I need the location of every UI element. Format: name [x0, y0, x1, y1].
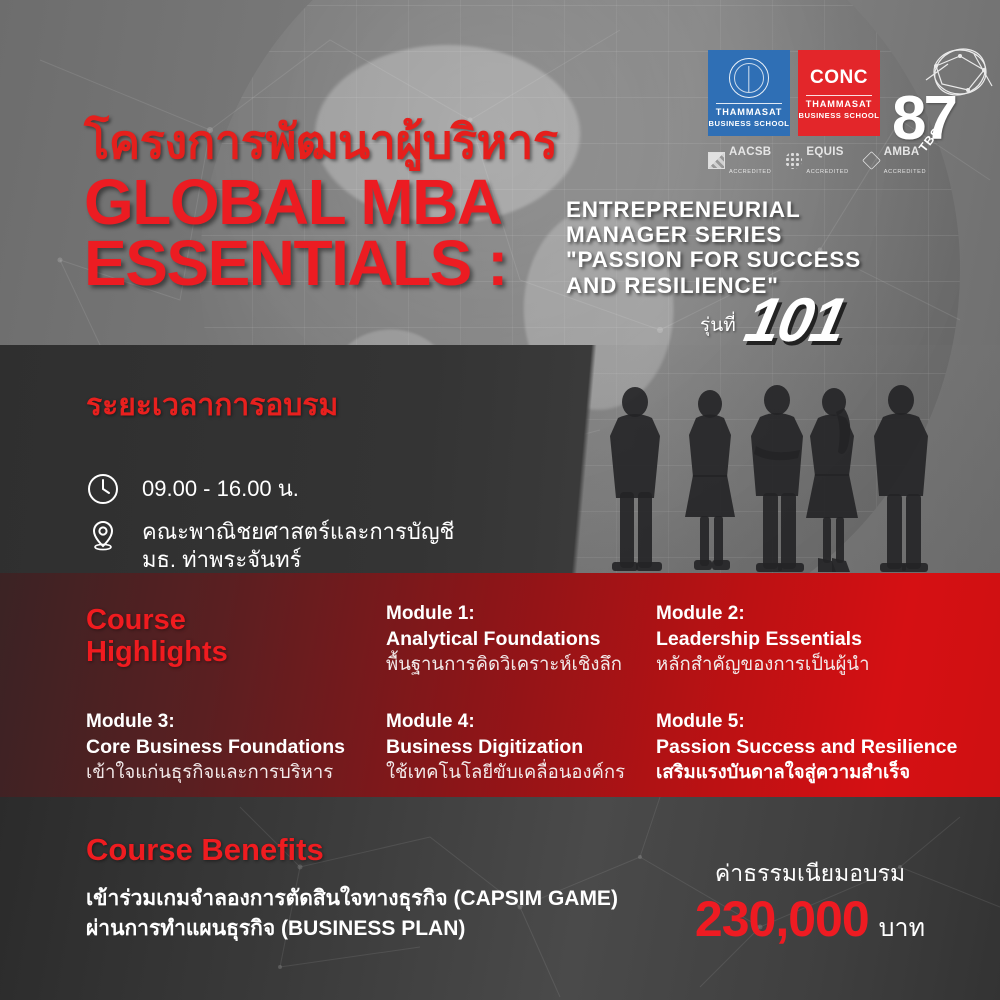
subtitle-line2: MANAGER SERIES	[566, 222, 861, 247]
accreditation-aacsb: AACSB ACCREDITED	[708, 142, 771, 178]
training-location-row: คณะพาณิชยศาสตร์และการบัญชี มธ. ท่าพระจัน…	[86, 518, 455, 574]
course-benefits-text: เข้าร่วมเกมจำลองการตัดสินใจทางธุรกิจ (CA…	[86, 884, 618, 945]
fee-label: ค่าธรรมเนียมอบรม	[660, 860, 960, 888]
amba-name: AMBA	[884, 146, 920, 158]
thammasat-logo-line1: THAMMASAT	[716, 103, 783, 117]
conc-logo-line1: THAMMASAT	[806, 95, 873, 109]
benefit-line1: เข้าร่วมเกมจำลองการตัดสินใจทางธุรกิจ (CA…	[86, 884, 618, 914]
fee-amount-row: 230,000 บาท	[660, 890, 960, 948]
accreditation-row: AACSB ACCREDITED EQUIS ACCREDITED AMBA A…	[708, 142, 926, 178]
fee-amount: 230,000	[695, 890, 869, 948]
thammasat-seal-icon	[729, 58, 769, 98]
series-subtitle: ENTREPRENEURIAL MANAGER SERIES "PASSION …	[566, 197, 861, 298]
module-card-1: Module 1: Analytical Foundations พื้นฐาน…	[386, 602, 622, 677]
generation-label: รุ่นที่	[700, 310, 736, 347]
course-highlights-title-line2: Highlights	[86, 636, 228, 668]
module-card-4: Module 4: Business Digitization ใช้เทคโน…	[386, 710, 625, 785]
conc-logo: CONC THAMMASAT BUSINESS SCHOOL	[798, 50, 880, 136]
thammasat-business-school-logo: THAMMASAT BUSINESS SCHOOL	[708, 50, 790, 136]
location-line1: คณะพาณิชยศาสตร์และการบัญชี	[142, 518, 455, 546]
course-benefits-title: Course Benefits	[86, 832, 324, 868]
module-4-title: Business Digitization	[386, 735, 625, 760]
location-pin-icon	[86, 518, 120, 552]
module-2-number: Module 2:	[656, 602, 869, 627]
benefit-line2: ผ่านการทำแผนธุรกิจ (BUSINESS PLAN)	[86, 914, 618, 944]
accreditation-equis: EQUIS ACCREDITED	[785, 142, 848, 178]
equis-name: EQUIS	[806, 146, 843, 158]
module-1-number: Module 1:	[386, 602, 622, 627]
conc-logo-line2: BUSINESS SCHOOL	[799, 111, 880, 120]
amba-sub: ACCREDITED	[884, 169, 926, 175]
module-card-3: Module 3: Core Business Foundations เข้า…	[86, 710, 345, 785]
subtitle-line1: ENTREPRENEURIAL	[566, 197, 861, 222]
course-highlights-title-line1: Course	[86, 604, 228, 636]
aacsb-icon	[708, 152, 725, 169]
conc-logo-word: CONC	[810, 67, 868, 89]
module-1-title: Analytical Foundations	[386, 627, 622, 652]
equis-icon	[785, 152, 802, 169]
module-2-title: Leadership Essentials	[656, 627, 869, 652]
aacsb-sub: ACCREDITED	[729, 169, 771, 175]
training-time-row: 09.00 - 16.00 น.	[86, 472, 299, 506]
fee-currency-unit: บาท	[879, 908, 925, 948]
module-2-thai: หลักสำคัญของการเป็นผู้นำ	[656, 652, 869, 677]
equis-sub: ACCREDITED	[806, 169, 848, 175]
module-5-number: Module 5:	[656, 710, 957, 735]
module-card-2: Module 2: Leadership Essentials หลักสำคั…	[656, 602, 869, 677]
english-title-line2: ESSENTIALS :	[84, 233, 507, 294]
duration-section-title: ระยะเวลาการอบรม	[86, 382, 338, 429]
module-4-number: Module 4:	[386, 710, 625, 735]
generation-block: รุ่นที่ 101	[700, 296, 843, 347]
location-line2: มธ. ท่าพระจันทร์	[142, 546, 455, 574]
module-3-thai: เข้าใจแก่นธุรกิจและการบริหาร	[86, 760, 345, 785]
module-card-5: Module 5: Passion Success and Resilience…	[656, 710, 957, 785]
aacsb-name: AACSB	[729, 146, 771, 158]
module-1-thai: พื้นฐานการคิดวิเคราะห์เชิงลึก	[386, 652, 622, 677]
generation-number: 101	[740, 296, 848, 347]
training-location-text: คณะพาณิชยศาสตร์และการบัญชี มธ. ท่าพระจัน…	[142, 518, 455, 574]
amba-icon	[862, 151, 881, 170]
module-3-title: Core Business Foundations	[86, 735, 345, 760]
fee-block: ค่าธรรมเนียมอบรม 230,000 บาท	[660, 860, 960, 948]
clock-icon	[86, 472, 120, 506]
module-5-thai: เสริมแรงบันดาลใจสู่ความสำเร็จ	[656, 760, 957, 785]
english-program-title: GLOBAL MBA ESSENTIALS :	[84, 172, 507, 295]
training-time-text: 09.00 - 16.00 น.	[142, 475, 299, 503]
course-highlights-title: Course Highlights	[86, 604, 228, 669]
module-4-thai: ใช้เทคโนโลยีขับเคลื่อนองค์กร	[386, 760, 625, 785]
module-5-title: Passion Success and Resilience	[656, 735, 957, 760]
poster-canvas: THAMMASAT BUSINESS SCHOOL CONC THAMMASAT…	[0, 0, 1000, 1000]
module-3-number: Module 3:	[86, 710, 345, 735]
accreditation-amba: AMBA ACCREDITED	[863, 142, 926, 178]
subtitle-line3: "PASSION FOR SUCCESS	[566, 247, 861, 272]
thammasat-logo-line2: BUSINESS SCHOOL	[709, 119, 790, 128]
